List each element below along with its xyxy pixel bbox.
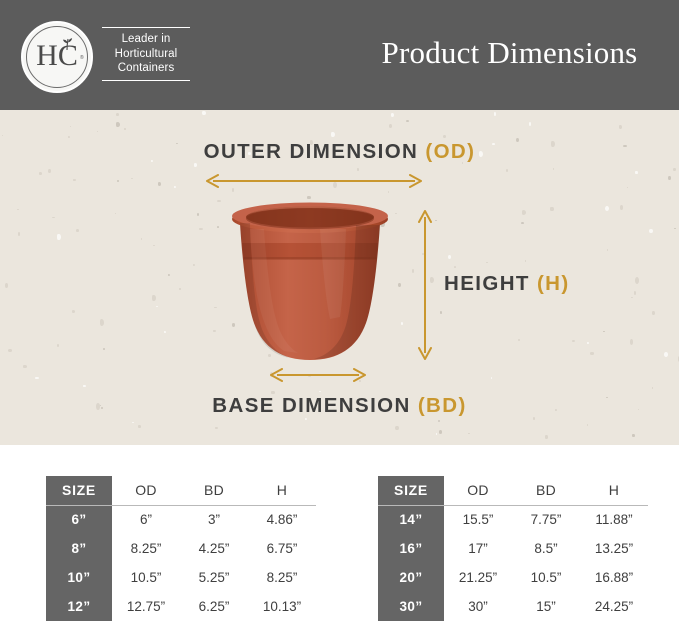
column-header-size: SIZE: [46, 476, 112, 505]
table-row: 20” 21.25” 10.5” 16.88”: [378, 563, 648, 592]
height-text: HEIGHT: [444, 272, 537, 295]
cell-size: 8”: [46, 534, 112, 563]
cell-h: 10.13”: [248, 592, 316, 621]
table-row: 12” 12.75” 6.25” 10.13”: [46, 592, 316, 621]
column-header-bd: BD: [512, 476, 580, 505]
tagline-line-2: Horticultural: [100, 47, 192, 62]
table-row: 10” 10.5” 5.25” 8.25”: [46, 563, 316, 592]
column-header-size: SIZE: [378, 476, 444, 505]
cell-od: 8.25”: [112, 534, 180, 563]
cell-od: 6”: [112, 505, 180, 534]
cell-od: 12.75”: [112, 592, 180, 621]
dimension-tables: SIZE OD BD H 6” 6” 3” 4.86” 8” 8.25” 4.2…: [0, 476, 679, 636]
column-header-od: OD: [444, 476, 512, 505]
height-label: HEIGHT (H): [444, 272, 644, 296]
arrow-head-up-icon: [418, 210, 432, 223]
cell-od: 15.5”: [444, 505, 512, 534]
cell-h: 4.86”: [248, 505, 316, 534]
tagline-line-1: Leader in: [100, 32, 192, 47]
outer-dimension-text: OUTER DIMENSION: [204, 140, 426, 163]
arrow-head-down-icon: [418, 347, 432, 360]
base-dimension-text: BASE DIMENSION: [212, 394, 418, 417]
cell-od: 30”: [444, 592, 512, 621]
arrow-shaft: [213, 180, 415, 182]
cell-size: 20”: [378, 563, 444, 592]
dimension-table-small-sizes: SIZE OD BD H 6” 6” 3” 4.86” 8” 8.25” 4.2…: [46, 476, 316, 621]
brand-logo: HC ®: [21, 21, 93, 93]
outer-dimension-arrow: [206, 174, 422, 188]
cell-h: 11.88”: [580, 505, 648, 534]
cell-h: 6.75”: [248, 534, 316, 563]
base-dimension-arrow: [270, 368, 366, 382]
brand-tagline: Leader in Horticultural Containers: [100, 27, 192, 81]
cell-size: 12”: [46, 592, 112, 621]
arrow-shaft: [277, 374, 359, 376]
table-row: 16” 17” 8.5” 13.25”: [378, 534, 648, 563]
registered-mark: ®: [80, 55, 84, 61]
cell-bd: 3”: [180, 505, 248, 534]
page-title: Product Dimensions: [340, 0, 679, 110]
flower-pot-illustration: [224, 199, 396, 367]
cell-h: 24.25”: [580, 592, 648, 621]
product-dimensions-infographic: HC ® Leader in Horticultural Containers …: [0, 0, 679, 636]
header-bar: HC ® Leader in Horticultural Containers …: [0, 0, 679, 110]
cell-h: 13.25”: [580, 534, 648, 563]
cell-bd: 7.75”: [512, 505, 580, 534]
cell-h: 16.88”: [580, 563, 648, 592]
outer-dimension-label: OUTER DIMENSION (OD): [0, 140, 679, 164]
cell-size: 16”: [378, 534, 444, 563]
base-dimension-abbr: (BD): [418, 394, 467, 417]
arrow-head-right-icon: [409, 174, 422, 188]
arrow-head-left-icon: [206, 174, 219, 188]
cell-od: 17”: [444, 534, 512, 563]
cell-bd: 4.25”: [180, 534, 248, 563]
table-row: 14” 15.5” 7.75” 11.88”: [378, 505, 648, 534]
column-header-od: OD: [112, 476, 180, 505]
tagline-line-3: Containers: [100, 61, 192, 76]
column-header-h: H: [580, 476, 648, 505]
cell-od: 21.25”: [444, 563, 512, 592]
cell-bd: 15”: [512, 592, 580, 621]
arrow-shaft: [424, 217, 426, 353]
cell-bd: 8.5”: [512, 534, 580, 563]
dimension-table-large-sizes: SIZE OD BD H 14” 15.5” 7.75” 11.88” 16” …: [378, 476, 648, 621]
table-header-row: SIZE OD BD H: [378, 476, 648, 505]
cell-size: 30”: [378, 592, 444, 621]
cell-bd: 5.25”: [180, 563, 248, 592]
cell-size: 6”: [46, 505, 112, 534]
tagline-rule-top: [102, 27, 190, 28]
cell-od: 10.5”: [112, 563, 180, 592]
column-header-h: H: [248, 476, 316, 505]
tagline-rule-bottom: [102, 80, 190, 81]
base-dimension-label: BASE DIMENSION (BD): [0, 394, 679, 418]
cell-bd: 10.5”: [512, 563, 580, 592]
column-header-bd: BD: [180, 476, 248, 505]
cell-size: 10”: [46, 563, 112, 592]
cell-bd: 6.25”: [180, 592, 248, 621]
arrow-head-left-icon: [270, 368, 283, 382]
arrow-head-right-icon: [353, 368, 366, 382]
table-row: 8” 8.25” 4.25” 6.75”: [46, 534, 316, 563]
table-row: 6” 6” 3” 4.86”: [46, 505, 316, 534]
table-header-row: SIZE OD BD H: [46, 476, 316, 505]
height-abbr: (H): [537, 272, 570, 295]
outer-dimension-abbr: (OD): [425, 140, 475, 163]
cell-h: 8.25”: [248, 563, 316, 592]
table-row: 30” 30” 15” 24.25”: [378, 592, 648, 621]
cell-size: 14”: [378, 505, 444, 534]
height-arrow: [418, 210, 432, 360]
